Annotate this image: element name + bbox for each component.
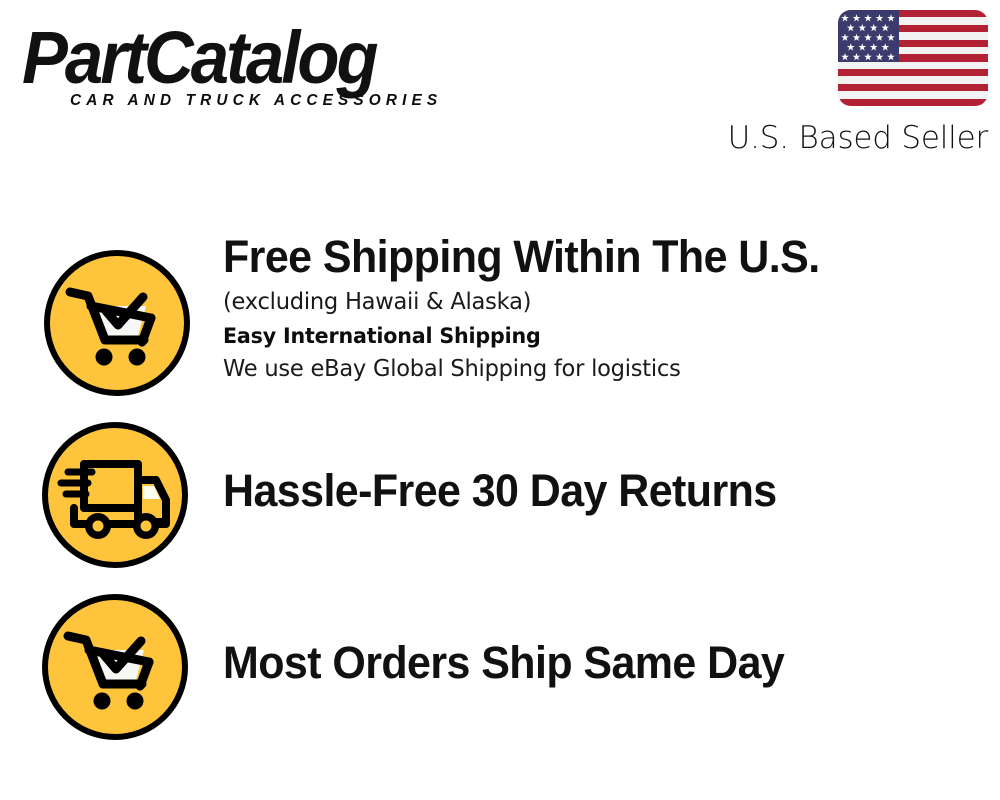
feature-text-same-day-ship: Most Orders Ship Same Day [223, 638, 811, 688]
flag-stripe [838, 69, 988, 76]
flag-stripe [838, 62, 988, 69]
feature-text-returns: Hassle-Free 30 Day Returns [223, 466, 803, 516]
delivery-truck-icon [42, 422, 188, 568]
feature-subtitle: (excluding Hawaii & Alaska) [223, 285, 823, 317]
feature-text-free-shipping: Free Shipping Within The U.S. (excluding… [223, 232, 848, 384]
feature-heading: Hassle-Free 30 Day Returns [223, 466, 777, 516]
flag-canton [838, 10, 899, 62]
shipping-info-banner: PartCatalog CAR AND TRUCK ACCESSORIES [0, 0, 1000, 800]
brand-wordmark: PartCatalog [22, 18, 376, 98]
brand-tagline: CAR AND TRUCK ACCESSORIES [70, 92, 442, 110]
flag-stripe [838, 76, 988, 83]
feature-heading: Most Orders Ship Same Day [223, 638, 784, 688]
flag-stripe [838, 84, 988, 91]
shopping-cart-check-icon [42, 594, 188, 740]
feature-heading: Free Shipping Within The U.S. [223, 232, 820, 282]
flag-stripe [838, 99, 988, 106]
feature-secondary-heading: Easy International Shipping [223, 321, 823, 352]
feature-secondary-subtitle: We use eBay Global Shipping for logistic… [223, 352, 823, 384]
flag-stripe [838, 91, 988, 98]
us-flag-icon [838, 10, 988, 106]
seller-location-label: U.S. Based Seller [723, 120, 988, 156]
brand-logo: PartCatalog CAR AND TRUCK ACCESSORIES [22, 18, 492, 118]
shopping-cart-check-icon [44, 250, 190, 396]
